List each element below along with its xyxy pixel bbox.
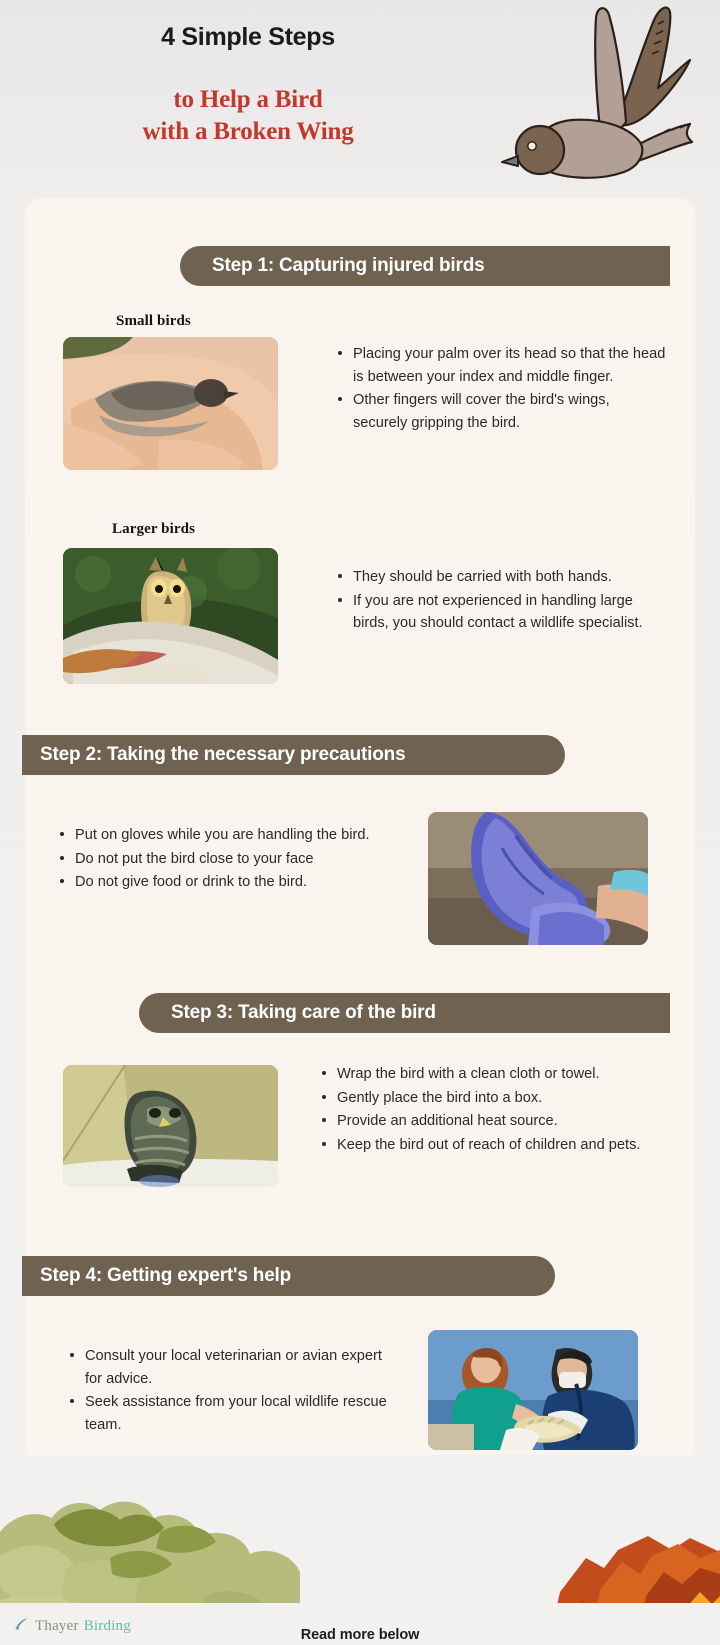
step-4-banner-label: Step 4: Getting expert's help bbox=[40, 1265, 291, 1287]
step-1-banner: Step 1: Capturing injured birds bbox=[180, 246, 670, 286]
list-item: Placing your palm over its head so that … bbox=[336, 343, 666, 388]
list-item: Put on gloves while you are handling the… bbox=[58, 824, 418, 847]
list-item: Seek assistance from your local wildlife… bbox=[68, 1391, 398, 1436]
owl-on-glove-photo bbox=[63, 548, 278, 684]
infographic-page: 4 Simple Steps to Help a Bird with a Bro… bbox=[0, 0, 720, 1645]
step-4-bullets: Consult your local veterinarian or avian… bbox=[68, 1345, 398, 1437]
flying-bird-icon bbox=[488, 2, 698, 192]
step-3-banner: Step 3: Taking care of the bird bbox=[139, 993, 670, 1033]
list-item: Consult your local veterinarian or avian… bbox=[68, 1345, 398, 1390]
header: 4 Simple Steps to Help a Bird with a Bro… bbox=[0, 0, 720, 198]
list-item: If you are not experienced in handling l… bbox=[336, 590, 654, 635]
list-item: Do not give food or drink to the bird. bbox=[58, 871, 418, 894]
step-4-banner: Step 4: Getting expert's help bbox=[22, 1256, 555, 1296]
header-title-block: 4 Simple Steps to Help a Bird with a Bro… bbox=[28, 24, 468, 148]
step-3-bullets: Wrap the bird with a clean cloth or towe… bbox=[320, 1063, 660, 1157]
step-1-banner-label: Step 1: Capturing injured birds bbox=[212, 255, 484, 277]
footer-bar bbox=[0, 1603, 720, 1645]
list-item: Other fingers will cover the bird's wing… bbox=[336, 389, 666, 434]
step-3-banner-label: Step 3: Taking care of the bird bbox=[171, 1002, 436, 1024]
brand-logo: Thayer Birding bbox=[14, 1616, 131, 1637]
list-item: Gently place the bird into a box. bbox=[320, 1087, 660, 1110]
brand-word-thayer: Thayer bbox=[35, 1618, 79, 1635]
bird-logo-icon bbox=[14, 1616, 30, 1637]
owl-in-cardboard-box-photo bbox=[63, 1065, 278, 1187]
step-2-banner: Step 2: Taking the necessary precautions bbox=[22, 735, 565, 775]
veterinarians-treating-bird-photo bbox=[428, 1330, 638, 1450]
page-title-line-3: with a Broken Wing bbox=[28, 116, 468, 148]
step-2-bullets: Put on gloves while you are handling the… bbox=[58, 824, 418, 895]
list-item: Keep the bird out of reach of children a… bbox=[320, 1134, 660, 1157]
step-2-banner-label: Step 2: Taking the necessary precautions bbox=[40, 744, 405, 766]
small-birds-label: Small birds bbox=[116, 313, 191, 330]
page-title-line-1: 4 Simple Steps bbox=[28, 24, 468, 52]
putting-on-blue-gloves-photo bbox=[428, 812, 648, 945]
read-more-label: Read more below bbox=[0, 1627, 720, 1643]
list-item: Wrap the bird with a clean cloth or towe… bbox=[320, 1063, 660, 1086]
list-item: They should be carried with both hands. bbox=[336, 566, 654, 589]
bottom-decoration: Read more below Thayer Birding bbox=[0, 1440, 720, 1645]
page-title-line-2: to Help a Bird bbox=[28, 84, 468, 116]
step-1-larger-birds-bullets: They should be carried with both hands. … bbox=[336, 566, 654, 636]
small-bird-in-hand-photo bbox=[63, 337, 278, 470]
larger-birds-label: Larger birds bbox=[112, 521, 195, 538]
list-item: Provide an additional heat source. bbox=[320, 1110, 660, 1133]
step-1-small-birds-bullets: Placing your palm over its head so that … bbox=[336, 343, 666, 435]
brand-word-birding: Birding bbox=[84, 1618, 131, 1635]
list-item: Do not put the bird close to your face bbox=[58, 848, 418, 871]
